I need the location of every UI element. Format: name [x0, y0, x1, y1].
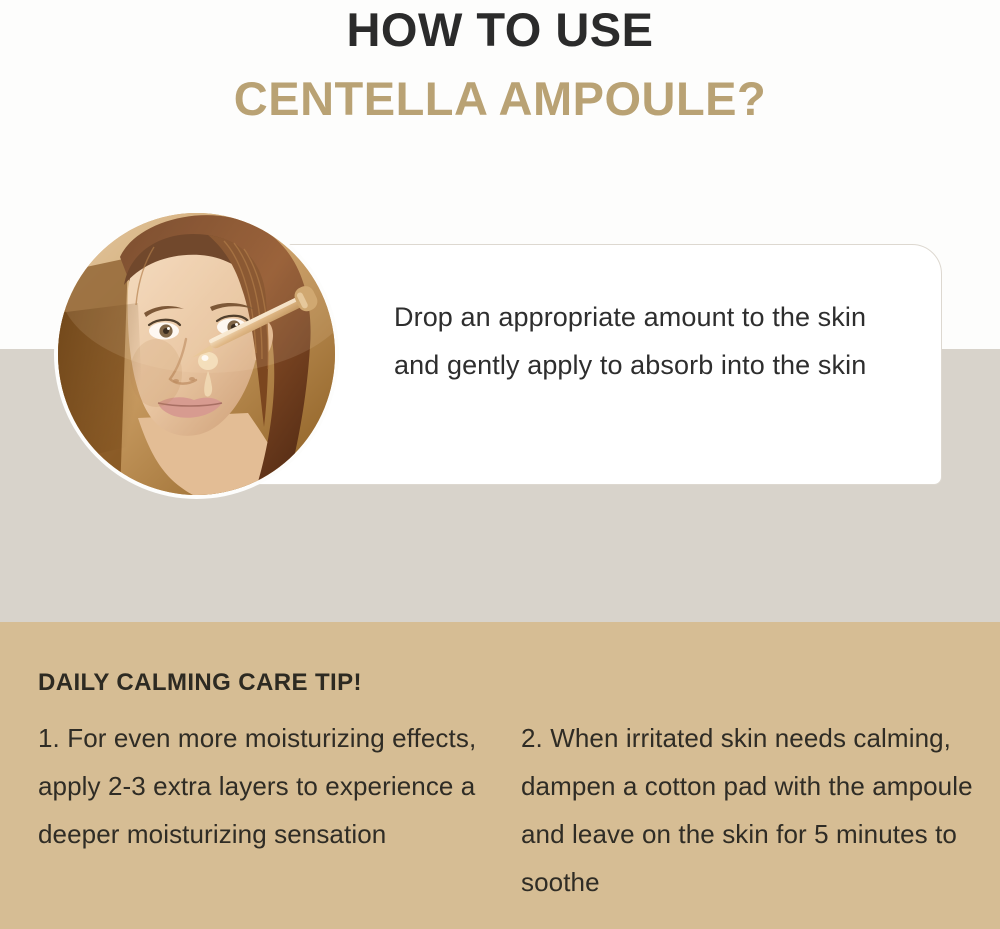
model-photo-circle	[58, 213, 335, 495]
instruction-text: Drop an appropriate amount to the skin a…	[394, 293, 904, 389]
tip-item-1: 1. For even more moisturizing effects, a…	[38, 714, 503, 906]
page-title-line-2: CENTELLA AMPOULE?	[0, 73, 1000, 126]
how-to-use-infographic: HOW TO USE CENTELLA AMPOULE? Drop an app…	[0, 0, 1000, 929]
tips-heading: DAILY CALMING CARE TIP!	[38, 669, 362, 697]
tips-columns: 1. For even more moisturizing effects, a…	[0, 714, 1000, 906]
daily-tips-section: DAILY CALMING CARE TIP! 1. For even more…	[0, 622, 1000, 929]
woman-applying-serum-icon	[58, 213, 335, 495]
page-title: HOW TO USE CENTELLA AMPOULE?	[0, 0, 1000, 125]
page-title-line-1: HOW TO USE	[0, 4, 1000, 57]
tip-item-2: 2. When irritated skin needs calming, da…	[521, 714, 991, 906]
